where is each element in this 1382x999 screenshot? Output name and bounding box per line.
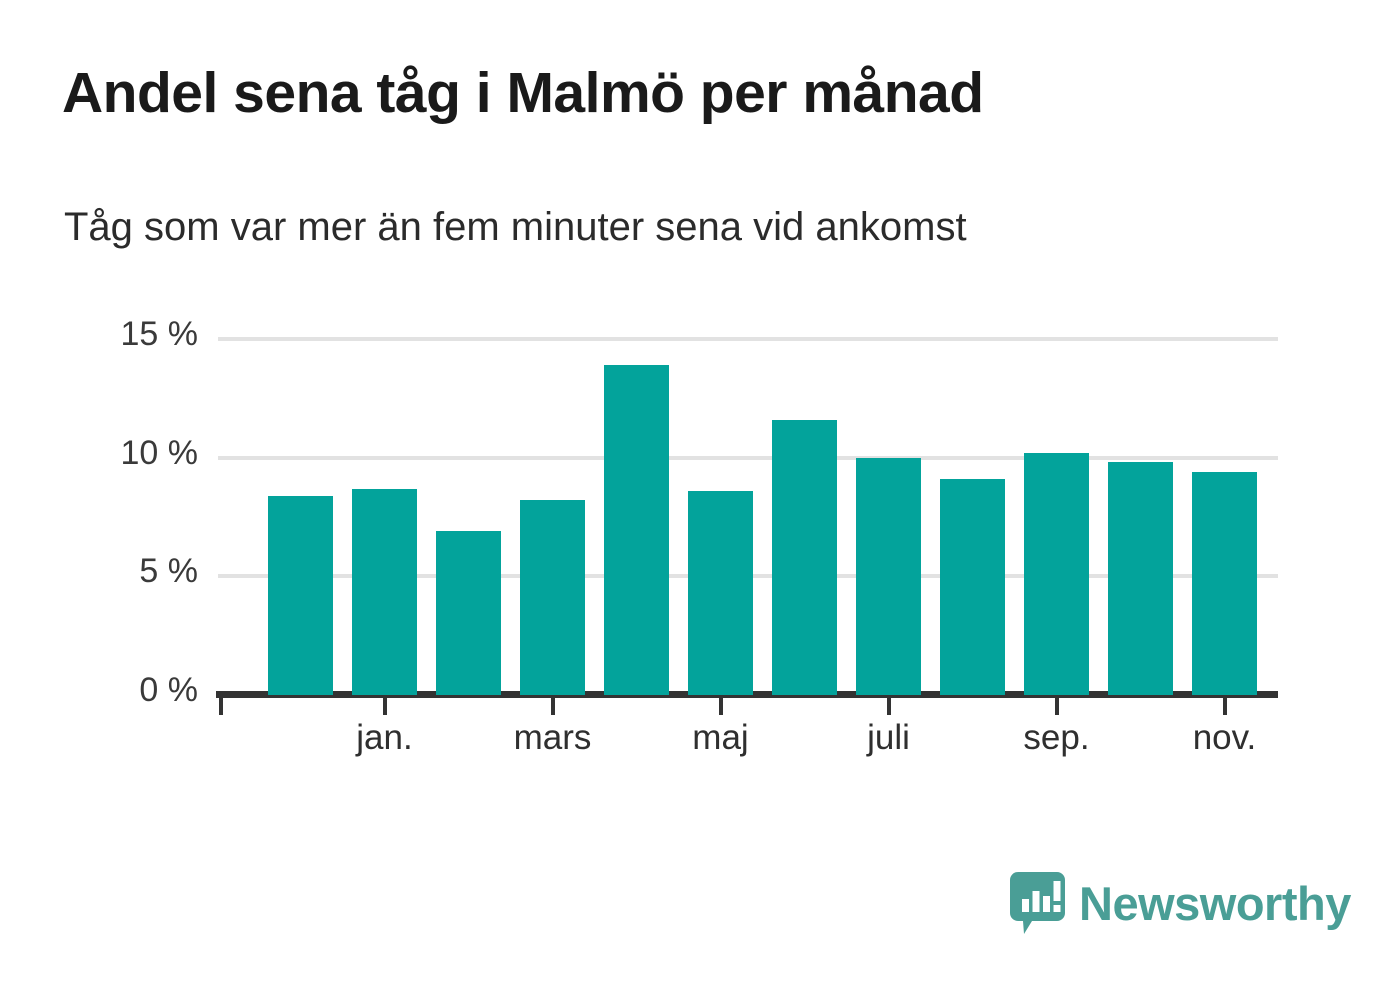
y-axis-tick-label: 15 %	[38, 315, 198, 354]
x-axis-tick-mars	[551, 698, 555, 715]
y-axis-tick-label: 10 %	[38, 434, 198, 473]
bar-okt.[interactable]	[1108, 462, 1173, 695]
bar-dec.[interactable]	[268, 496, 333, 695]
gridline-15	[218, 337, 1278, 341]
bar-juli[interactable]	[856, 458, 921, 695]
x-axis-tick-maj	[719, 698, 723, 715]
bar-chart-speech-bubble-icon	[1010, 872, 1065, 934]
logo-wordmark: Newsworthy	[1079, 880, 1351, 927]
bar-nov.[interactable]	[1192, 472, 1257, 695]
x-axis-tick-jan	[383, 698, 387, 715]
gridline-10	[218, 456, 1278, 460]
bar-juni[interactable]	[772, 420, 837, 695]
x-axis-tick-label: mars	[468, 718, 638, 758]
bar-maj[interactable]	[688, 491, 753, 695]
x-axis-tick-sep	[1055, 698, 1059, 715]
x-axis-tick-label: nov.	[1140, 718, 1310, 758]
x-axis-tick-label: sep.	[972, 718, 1142, 758]
bar-aug.[interactable]	[940, 479, 1005, 695]
bar-chart-plot: 0 %5 %10 %15 %jan.marsmajjulisep.nov.	[0, 0, 1382, 999]
newsworthy-logo[interactable]: Newsworthy	[1010, 872, 1351, 934]
y-axis-tick-label: 0 %	[38, 671, 198, 710]
bar-feb.[interactable]	[436, 531, 501, 695]
y-axis-tick-label: 5 %	[38, 552, 198, 591]
x-axis-tick-label: maj	[636, 718, 806, 758]
bar-sep.[interactable]	[1024, 453, 1089, 695]
x-axis-tick-juli	[887, 698, 891, 715]
x-axis-tick-label: juli	[804, 718, 974, 758]
x-axis-tick-label: jan.	[300, 718, 470, 758]
bar-jan.[interactable]	[352, 489, 417, 695]
bar-apr.[interactable]	[604, 365, 669, 695]
x-axis-origin-tick	[219, 698, 223, 715]
chart-page: Andel sena tåg i Malmö per månad Tåg som…	[0, 0, 1382, 999]
bar-mars[interactable]	[520, 500, 585, 695]
x-axis-tick-nov	[1223, 698, 1227, 715]
